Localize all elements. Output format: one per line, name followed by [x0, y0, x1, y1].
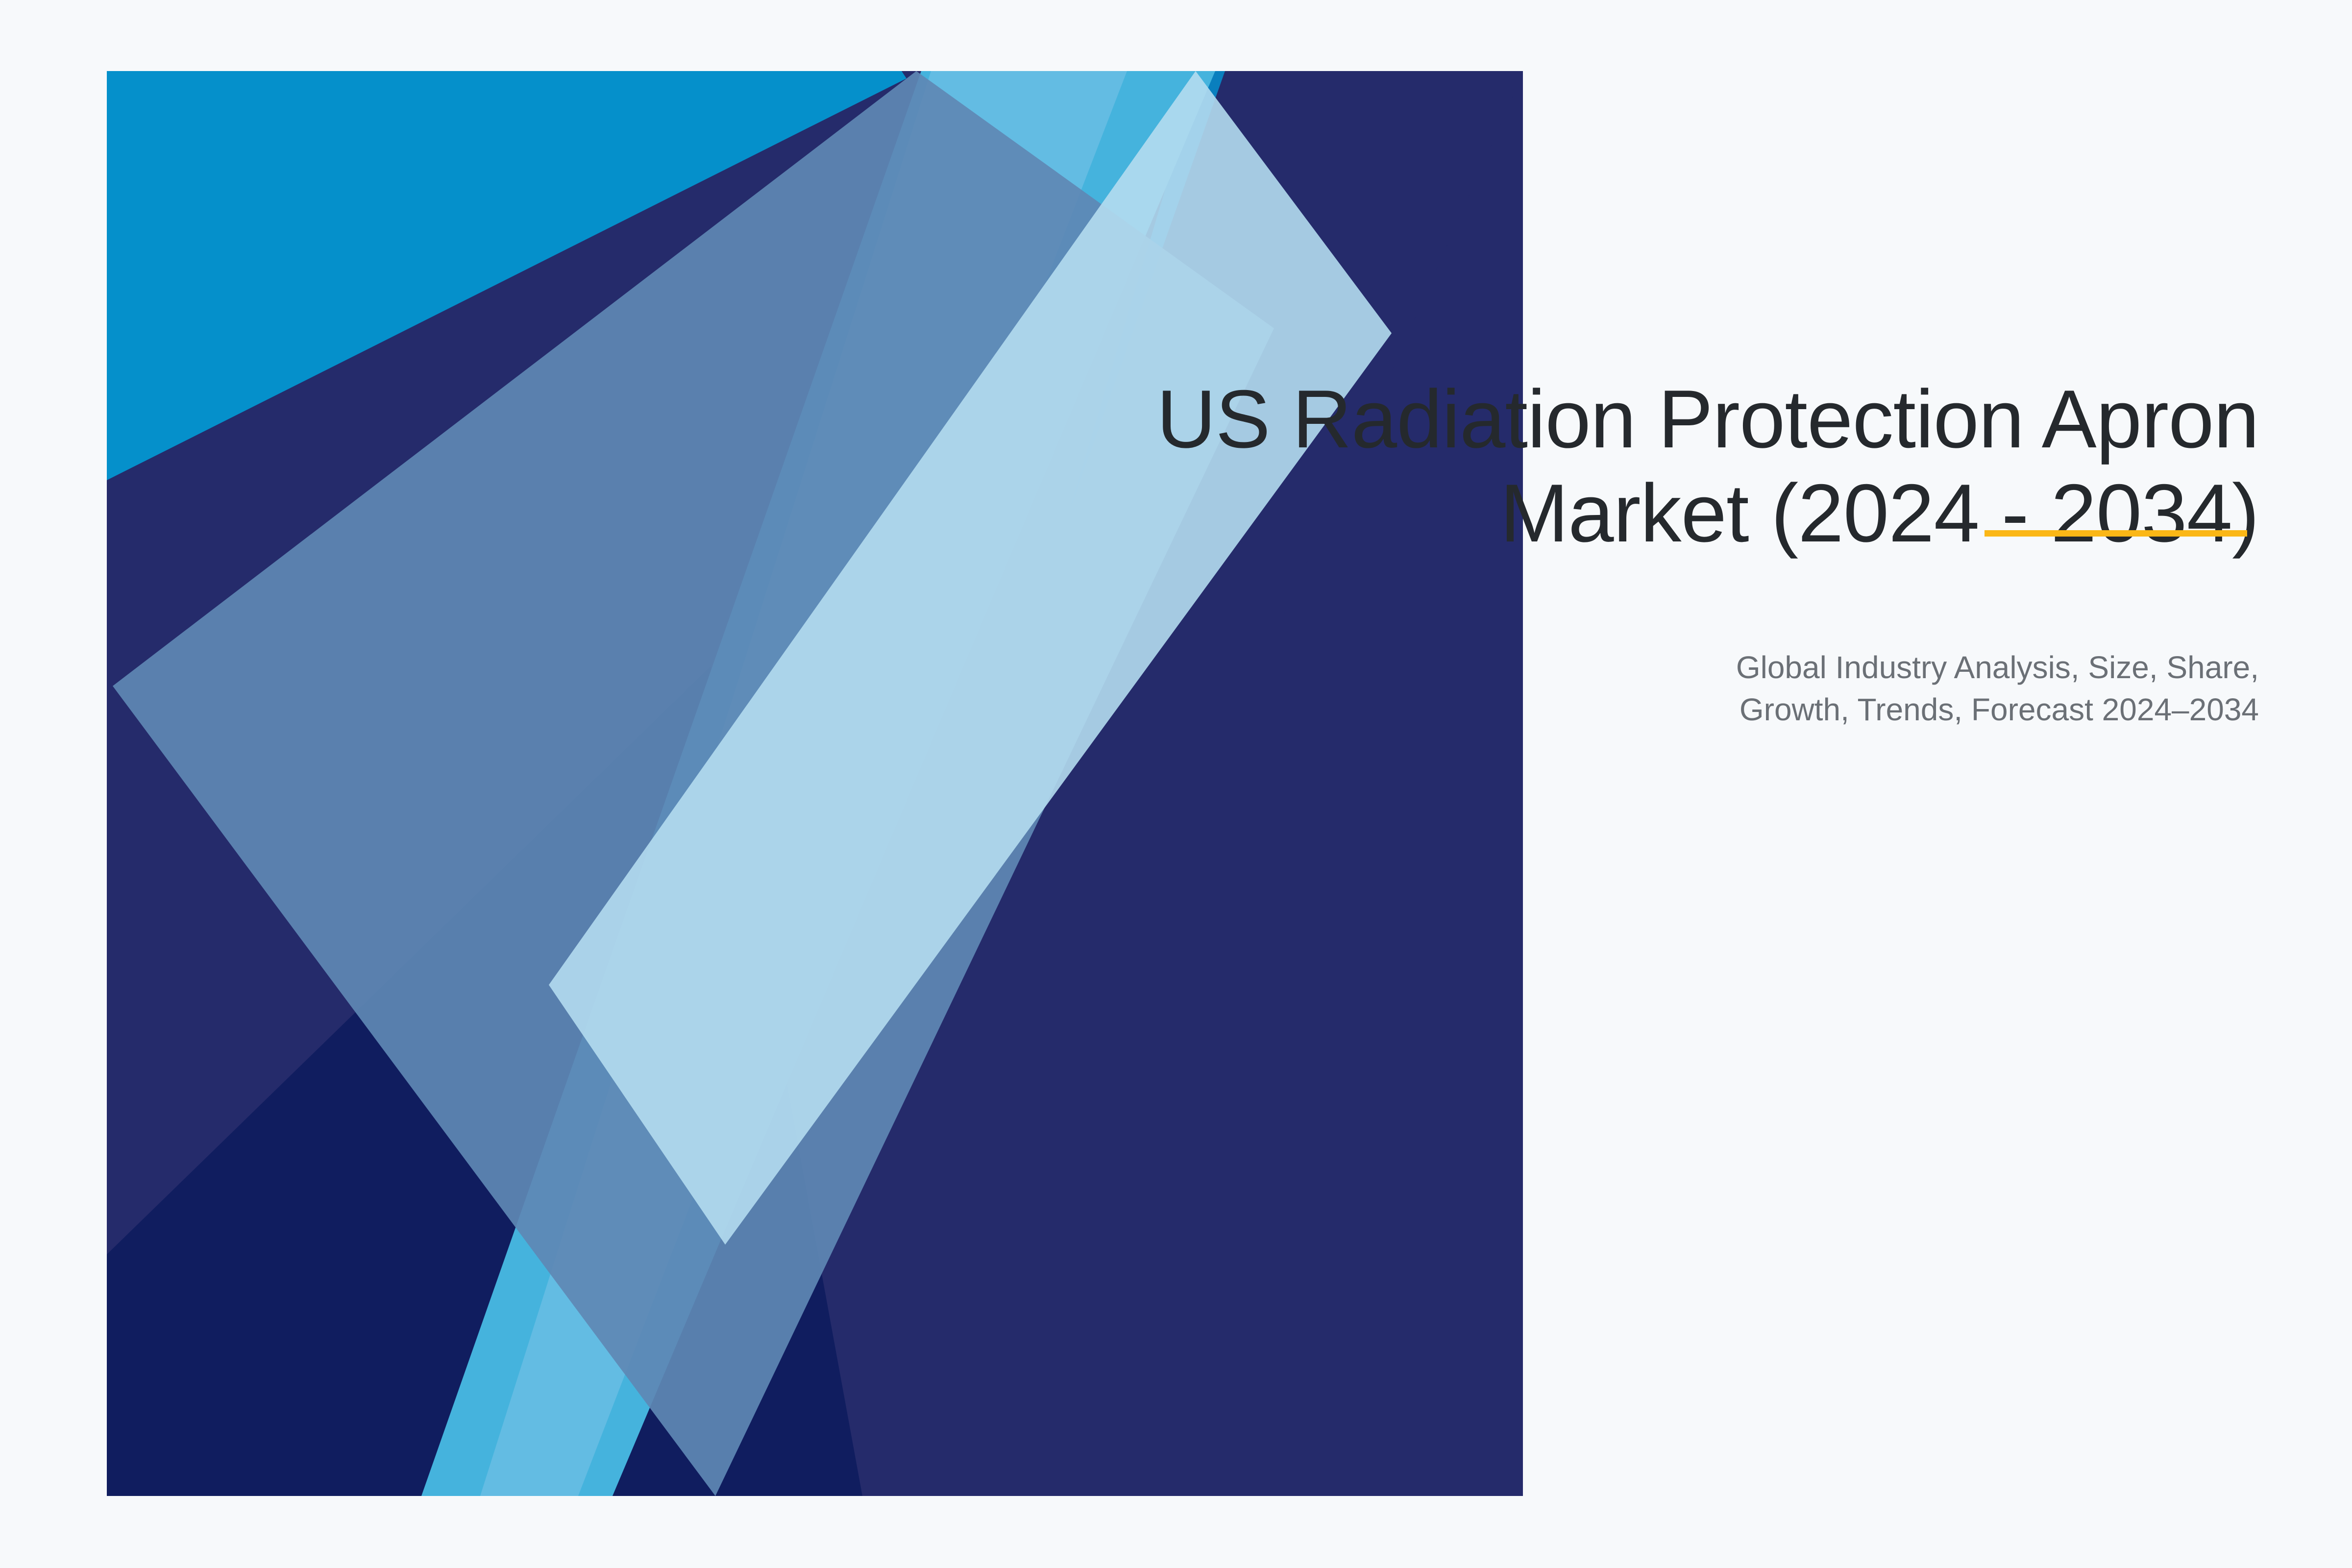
title-accent-underline [1984, 530, 2247, 537]
subtitle-block: Global Industry Analysis, Size, Share, G… [1421, 647, 2259, 731]
report-cover-page: US Radiation Protection Apron Market (20… [0, 0, 2352, 1568]
page-subtitle: Global Industry Analysis, Size, Share, G… [1421, 647, 2259, 731]
abstract-geometric-artwork [0, 0, 2352, 1568]
